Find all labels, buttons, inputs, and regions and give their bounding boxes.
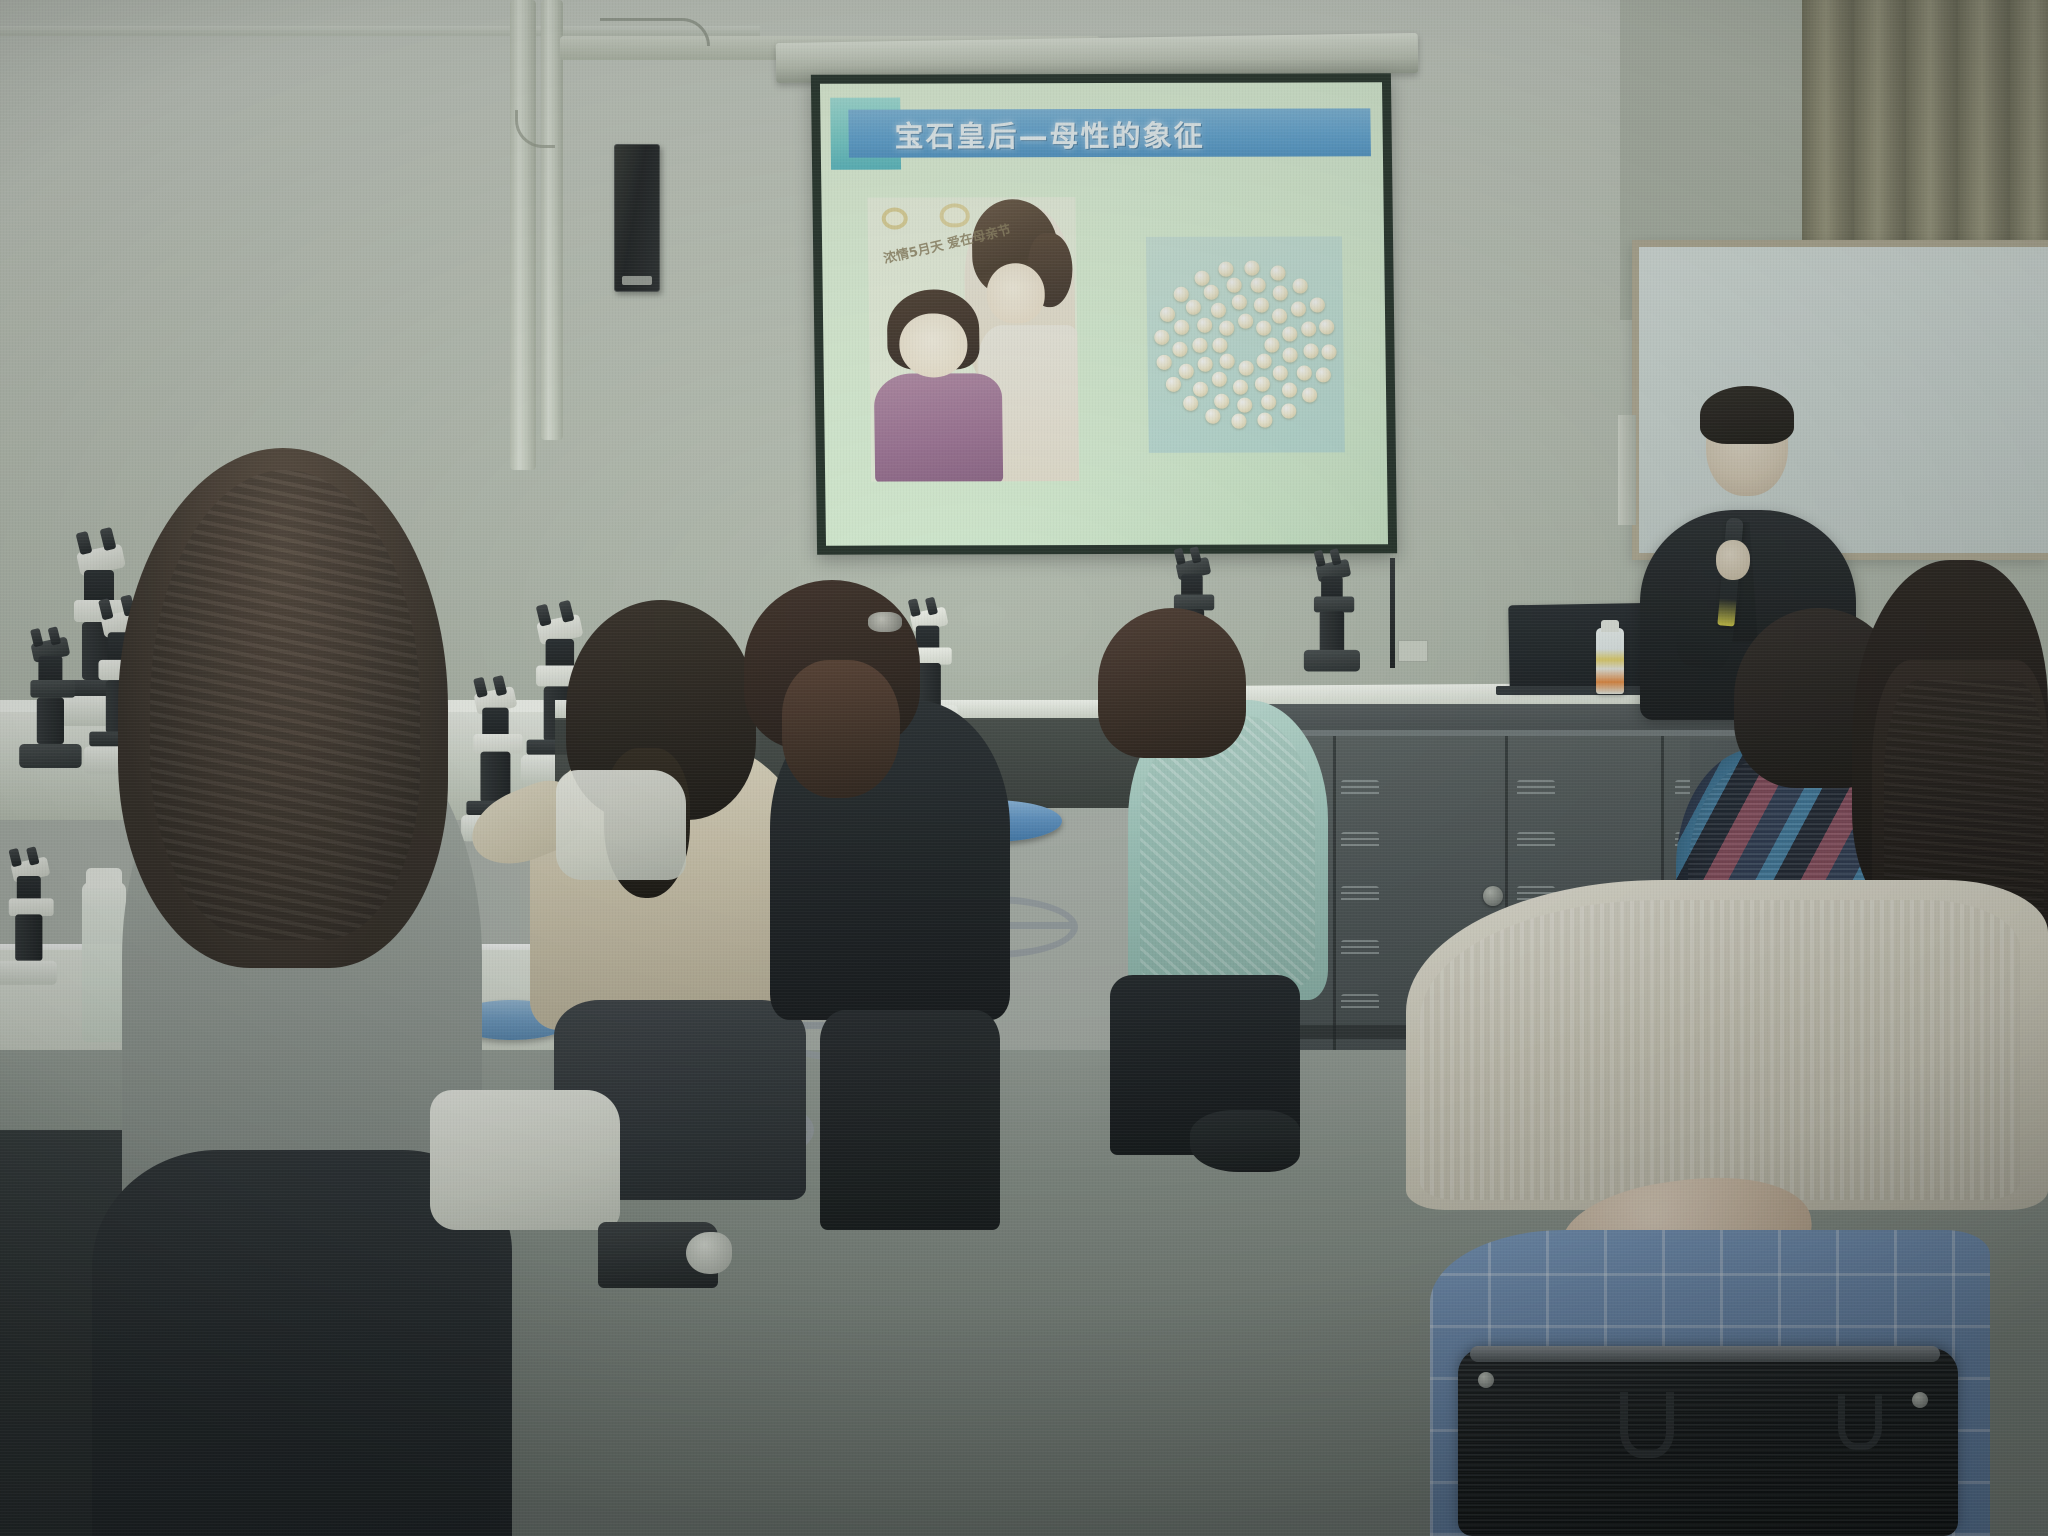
slide-pearl-photo bbox=[1146, 236, 1345, 452]
pearl-icon bbox=[1254, 297, 1269, 312]
attendee-hair bbox=[1098, 608, 1246, 758]
pearl-icon bbox=[1214, 393, 1229, 408]
pearl-icon bbox=[1297, 365, 1312, 380]
water-bottle bbox=[1596, 628, 1624, 694]
pearl-icon bbox=[1226, 277, 1241, 292]
slide-mother-face bbox=[986, 263, 1045, 323]
pearl-icon bbox=[1193, 381, 1208, 396]
cylinder-lock-icon[interactable] bbox=[1483, 886, 1503, 906]
slide-title-text: 宝石皇后—母性的象征 bbox=[894, 113, 1205, 156]
projected-slide: 宝石皇后—母性的象征 浓情5月天 爱在母亲节 bbox=[820, 82, 1388, 545]
pearl-icon bbox=[1156, 354, 1171, 369]
pearl-icon bbox=[1320, 320, 1335, 335]
attendee-shoe bbox=[1190, 1110, 1300, 1172]
wall-pipe-vertical-left bbox=[510, 0, 536, 470]
pearl-icon bbox=[1183, 395, 1198, 410]
bangle-jewelry-icon bbox=[940, 203, 970, 227]
handbag-zipper bbox=[1470, 1346, 1940, 1362]
pearl-icon bbox=[1192, 337, 1207, 352]
slide-mother-daughter-photo: 浓情5月天 爱在母亲节 bbox=[867, 197, 1079, 482]
presenter-hand bbox=[1716, 540, 1750, 580]
pearl-icon bbox=[1174, 320, 1189, 335]
handbag-handle bbox=[1620, 1392, 1674, 1458]
louvered-vent-icon bbox=[1517, 780, 1555, 798]
pearl-icon bbox=[1302, 388, 1317, 403]
pearl-icon bbox=[1291, 301, 1306, 316]
pearl-icon bbox=[1256, 320, 1271, 335]
handbag-stud-icon bbox=[1912, 1392, 1928, 1408]
wall-speaker-icon bbox=[614, 144, 660, 292]
pearl-icon bbox=[1250, 278, 1265, 293]
pearl-icon bbox=[1160, 307, 1175, 322]
pearl-icon bbox=[1292, 279, 1307, 294]
pearl-icon bbox=[1261, 394, 1276, 409]
pearl-icon bbox=[1219, 320, 1234, 335]
pearl-icon bbox=[1185, 300, 1200, 315]
pearl-icon bbox=[1255, 377, 1270, 392]
bag-buckle-icon bbox=[686, 1232, 732, 1274]
pearl-icon bbox=[1309, 297, 1324, 312]
pearl-icon bbox=[1270, 266, 1285, 281]
handbag-handle bbox=[1838, 1394, 1882, 1450]
wall-pipe-vertical-right bbox=[541, 0, 563, 440]
pearl-icon bbox=[1174, 286, 1189, 301]
pearl-icon bbox=[1237, 398, 1252, 413]
pearl-icon bbox=[1212, 372, 1227, 387]
pearl-icon bbox=[1231, 414, 1246, 429]
pearl-icon bbox=[1256, 354, 1271, 369]
gooseneck-microphone-icon bbox=[1390, 558, 1395, 668]
whiteboard-marker-tray bbox=[1618, 415, 1636, 525]
pearl-icon bbox=[1232, 295, 1247, 310]
whiteboard bbox=[1632, 240, 2048, 560]
louvered-vent-icon bbox=[1341, 780, 1379, 798]
attendee-lower-body bbox=[820, 1010, 1000, 1230]
water-bottle-cap bbox=[86, 868, 122, 888]
louvered-vent-icon bbox=[1341, 832, 1379, 850]
slide-daughter-top bbox=[874, 373, 1003, 481]
pearl-icon bbox=[1238, 313, 1253, 328]
pearl-icon bbox=[1218, 262, 1233, 277]
attendee-hair-texture bbox=[150, 470, 420, 940]
pearl-icon bbox=[1203, 285, 1218, 300]
pearl-icon bbox=[1212, 337, 1227, 352]
louvered-vent-icon bbox=[1341, 886, 1379, 904]
lecture-room-photo: 宝石皇后—母性的象征 浓情5月天 爱在母亲节 bbox=[0, 0, 2048, 1536]
water-bottle-cap bbox=[1601, 620, 1619, 632]
pearl-icon bbox=[1244, 260, 1259, 275]
slide-body: 浓情5月天 爱在母亲节 bbox=[821, 174, 1388, 545]
pearl-icon bbox=[1197, 318, 1212, 333]
pearl-icon bbox=[1322, 344, 1337, 359]
pearl-icon bbox=[1257, 412, 1272, 427]
pearl-icon bbox=[1197, 357, 1212, 372]
slide-daughter-face bbox=[899, 313, 968, 377]
attendee-hair-lower bbox=[782, 660, 900, 798]
presenter-hair bbox=[1700, 386, 1794, 444]
pearl-icon bbox=[1303, 344, 1318, 359]
pearl-icon bbox=[1283, 347, 1298, 362]
projection-screen-frame: 宝石皇后—母性的象征 浓情5月天 爱在母亲节 bbox=[811, 73, 1397, 554]
beige-handbag bbox=[556, 770, 686, 880]
louvered-vent-icon bbox=[1341, 940, 1379, 958]
hair-clip-icon bbox=[868, 612, 902, 632]
pearl-icon bbox=[1272, 309, 1287, 324]
wall-outlet-icon bbox=[1398, 640, 1428, 662]
pearl-icon bbox=[1282, 383, 1297, 398]
white-coat-on-stool bbox=[430, 1090, 620, 1230]
pearl-icon bbox=[1282, 327, 1297, 342]
pearl-icon bbox=[1220, 354, 1235, 369]
pearl-icon bbox=[1282, 403, 1297, 418]
ring-jewelry-icon bbox=[882, 208, 908, 230]
pearl-icon bbox=[1172, 342, 1187, 357]
pearl-icon bbox=[1179, 363, 1194, 378]
pearl-icon bbox=[1206, 408, 1221, 423]
conduit-wire bbox=[600, 18, 710, 46]
pearl-icon bbox=[1211, 302, 1226, 317]
pearl-icon bbox=[1264, 337, 1279, 352]
pearl-icon bbox=[1301, 321, 1316, 336]
pearl-icon bbox=[1315, 367, 1330, 382]
handbag-stud-icon bbox=[1478, 1372, 1494, 1388]
pearl-icon bbox=[1273, 365, 1288, 380]
pearl-icon bbox=[1233, 379, 1248, 394]
pearl-icon bbox=[1273, 286, 1288, 301]
water-bottle-on-bench bbox=[82, 882, 126, 1042]
pearl-icon bbox=[1166, 377, 1181, 392]
pearl-icon bbox=[1154, 330, 1169, 345]
black-leather-handbag bbox=[1458, 1348, 1958, 1536]
louvered-vent-icon bbox=[1341, 994, 1379, 1012]
louvered-vent-icon bbox=[1517, 832, 1555, 850]
pearl-icon bbox=[1194, 271, 1209, 286]
sweater-rib-texture bbox=[1420, 900, 2020, 1200]
pearl-icon bbox=[1238, 361, 1253, 376]
